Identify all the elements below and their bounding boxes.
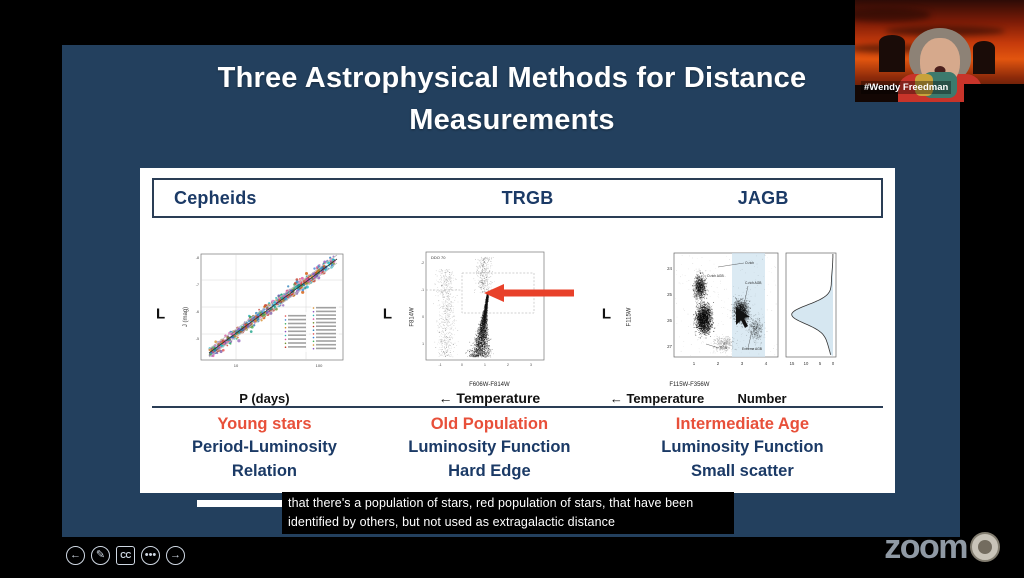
svg-text:-1: -1 — [439, 363, 442, 367]
zoom-watermark: zoom — [884, 530, 1000, 564]
presentation-toolbar[interactable]: ← ✎ CC ••• → — [66, 546, 185, 565]
jagb-descriptor-method: Luminosity Function — [602, 436, 883, 459]
trgb-descriptor-method: Luminosity Function — [377, 436, 602, 459]
pencil-annotate-icon[interactable]: ✎ — [91, 546, 110, 565]
cepheid-x-axis-label: P (days) — [152, 391, 377, 406]
jagb-y-axis-unit: F115W — [626, 307, 632, 326]
caption-line-2: identified by others, but not used as ex… — [288, 513, 728, 532]
zoom-wordmark: zoom — [884, 530, 967, 564]
svg-text:0: 0 — [461, 363, 463, 367]
trgb-x-axis-label: ← Temperature — [377, 390, 602, 406]
svg-text:-2: -2 — [421, 261, 424, 265]
cepheid-period-luminosity-chart: 10100 -8-7 -6-5 — [179, 250, 349, 378]
descriptor-block: Young stars Old Population Intermediate … — [152, 408, 883, 483]
slide-title-line-2: Measurements — [122, 99, 902, 141]
zoom-meeting-window: Three Astrophysical Methods for Distance… — [0, 0, 1024, 578]
jagb-color-magnitude-chart: 2425 2627 12 34 O-rich O-rich AGB — [644, 249, 840, 379]
cepheid-y-axis-unit: J (mag) — [183, 307, 189, 327]
caption-line-1: that there's a population of stars, red … — [288, 494, 728, 513]
svg-text:1: 1 — [484, 363, 486, 367]
svg-text:0: 0 — [422, 315, 424, 319]
svg-text:-7: -7 — [196, 283, 199, 287]
svg-text:10: 10 — [234, 363, 239, 368]
speaker-video-thumbnail[interactable]: #Wendy Freedman — [855, 0, 1024, 102]
jagb-descriptor-detail: Small scatter — [602, 460, 883, 483]
trgb-panel-label: DDO 70 — [431, 255, 446, 260]
university-seal-icon — [970, 532, 1000, 562]
observatory-dome-right — [973, 48, 995, 74]
jagb-x-axis-unit: F115W-F356W — [669, 382, 709, 388]
trgb-y-axis-label: L — [383, 305, 392, 322]
method-header-bar: Cepheids TRGB JAGB — [152, 178, 883, 218]
previous-arrow-icon[interactable]: ← — [66, 546, 85, 565]
cepheid-plot-cell: L J (mag) 10100 — [152, 224, 377, 404]
trgb-descriptor-population: Old Population — [377, 413, 602, 436]
trgb-color-magnitude-chart: DDO 70 -2-1 01 -10 — [400, 249, 578, 379]
slide-title-line-1: Three Astrophysical Methods for Distance — [122, 57, 902, 99]
jagb-x-axis-label: ← Temperature — [610, 391, 704, 406]
svg-text:-1: -1 — [421, 288, 424, 292]
trgb-descriptor-detail: Hard Edge — [377, 460, 602, 483]
cepheid-descriptor-method: Period-Luminosity — [152, 436, 377, 459]
trgb-x-axis-unit: F606W-F814W — [469, 382, 510, 388]
svg-text:-8: -8 — [196, 256, 199, 260]
slide-title: Three Astrophysical Methods for Distance… — [122, 57, 902, 141]
trgb-y-axis-unit: F814W — [410, 307, 416, 326]
jagb-descriptor-population: Intermediate Age — [602, 413, 883, 436]
more-options-icon[interactable]: ••• — [141, 546, 160, 565]
trgb-plot-cell: L F814W DDO 70 -2-1 — [377, 224, 602, 404]
pip-corner-mask — [964, 84, 1024, 102]
presentation-slide: Three Astrophysical Methods for Distance… — [62, 45, 960, 537]
closed-caption-icon[interactable]: CC — [116, 546, 135, 565]
jagb-y-axis-label: L — [602, 305, 611, 322]
svg-text:-6: -6 — [196, 310, 199, 314]
svg-text:2: 2 — [507, 363, 509, 367]
svg-text:100: 100 — [316, 363, 323, 368]
svg-text:1: 1 — [422, 342, 424, 346]
next-arrow-icon[interactable]: → — [166, 546, 185, 565]
jagb-histogram-axis-label: Number — [738, 391, 787, 406]
svg-text:3: 3 — [530, 363, 532, 367]
observatory-dome-left — [879, 42, 905, 72]
jagb-plot-cell: L F115W 2425 2627 — [602, 224, 883, 404]
method-header-jagb: JAGB — [645, 188, 881, 209]
methods-comparison-card: Cepheids TRGB JAGB L J (mag) — [140, 168, 895, 493]
cepheid-descriptor-detail: Relation — [152, 460, 377, 483]
method-header-cepheids: Cepheids — [154, 188, 410, 209]
live-caption-box: that there's a population of stars, red … — [282, 492, 734, 534]
method-header-trgb: TRGB — [410, 188, 646, 209]
speaker-name-tag: #Wendy Freedman — [861, 81, 951, 94]
plots-row: L J (mag) 10100 — [152, 224, 883, 404]
cepheid-descriptor-population: Young stars — [152, 413, 377, 436]
svg-text:-5: -5 — [196, 337, 199, 341]
cepheid-y-axis-label: L — [156, 305, 165, 322]
